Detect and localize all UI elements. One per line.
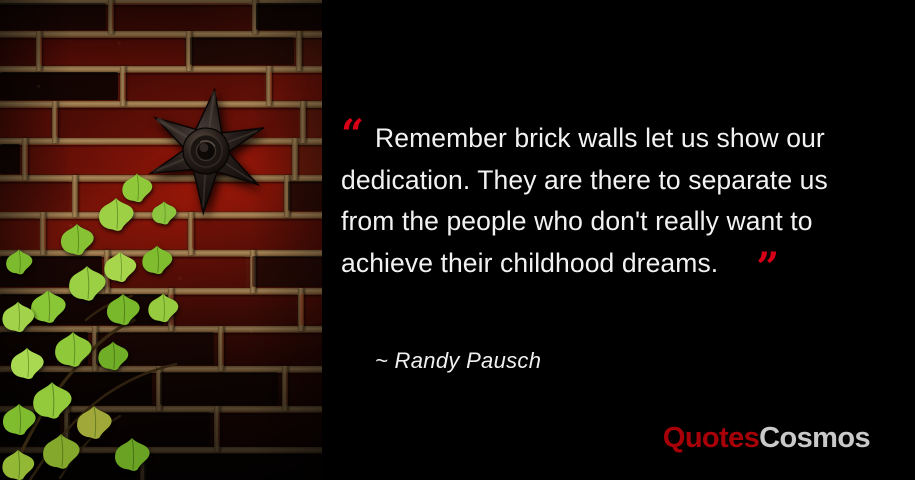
brick-face	[112, 3, 250, 30]
brick-face	[256, 3, 322, 30]
ivy-leaf	[40, 432, 82, 471]
brick-face	[160, 372, 278, 405]
brick-face	[222, 332, 322, 365]
logo-quotes-text: Quotes	[663, 422, 759, 454]
quote-card: “ Remember brick walls let us show our d…	[0, 0, 915, 480]
quotescosmos-logo[interactable]: QuotesCosmos	[663, 422, 870, 455]
brick-face	[40, 37, 184, 65]
brick-face	[270, 72, 322, 100]
brick-face	[286, 372, 322, 405]
ivy-leaf	[104, 292, 142, 327]
logo-cosmos-text: Cosmos	[759, 422, 870, 454]
ivy-leaf	[140, 244, 174, 276]
brick-face	[170, 294, 296, 325]
brick-face	[192, 218, 322, 249]
brick-face	[252, 256, 322, 287]
brick-face	[0, 3, 106, 30]
ivy-leaf	[0, 300, 36, 334]
ivy-leaf	[146, 292, 180, 324]
ivy-leaf	[0, 402, 38, 437]
brick-face	[0, 181, 70, 211]
ivy-leaf	[112, 436, 152, 473]
brick-face	[0, 37, 34, 65]
quote-attribution: ~ Randy Pausch	[375, 348, 541, 374]
quote-text: Remember brick walls let us show our ded…	[341, 118, 886, 284]
mortar-joint	[300, 101, 306, 143]
mortar-joint	[292, 138, 298, 180]
ivy-leaf	[58, 222, 96, 257]
brick-face	[0, 218, 38, 249]
ivy-leaf	[4, 248, 34, 276]
mortar-joint	[296, 31, 302, 71]
ivy-leaf	[96, 196, 136, 233]
ivy-leaf	[0, 448, 36, 480]
brick-face	[288, 181, 322, 211]
ivy-leaf	[150, 200, 178, 226]
quote-block: “ Remember brick walls let us show our d…	[341, 118, 901, 284]
ivy-leaf	[52, 330, 94, 369]
brick-face	[0, 107, 50, 137]
quote-content-panel: “ Remember brick walls let us show our d…	[322, 0, 915, 480]
brick-face	[144, 453, 322, 480]
ivy-leaf	[96, 340, 130, 372]
ivy-leaf	[8, 346, 46, 381]
brick-face	[300, 294, 322, 325]
brick-face	[0, 72, 118, 100]
brick-face	[190, 37, 294, 65]
brick-face	[218, 412, 322, 446]
brick-wall-photo	[0, 0, 322, 480]
iron-star-anchor-icon	[141, 86, 271, 216]
ivy-leaf	[66, 264, 108, 303]
brick-face	[0, 144, 20, 174]
quote-body: Remember brick walls let us show our ded…	[341, 123, 828, 278]
